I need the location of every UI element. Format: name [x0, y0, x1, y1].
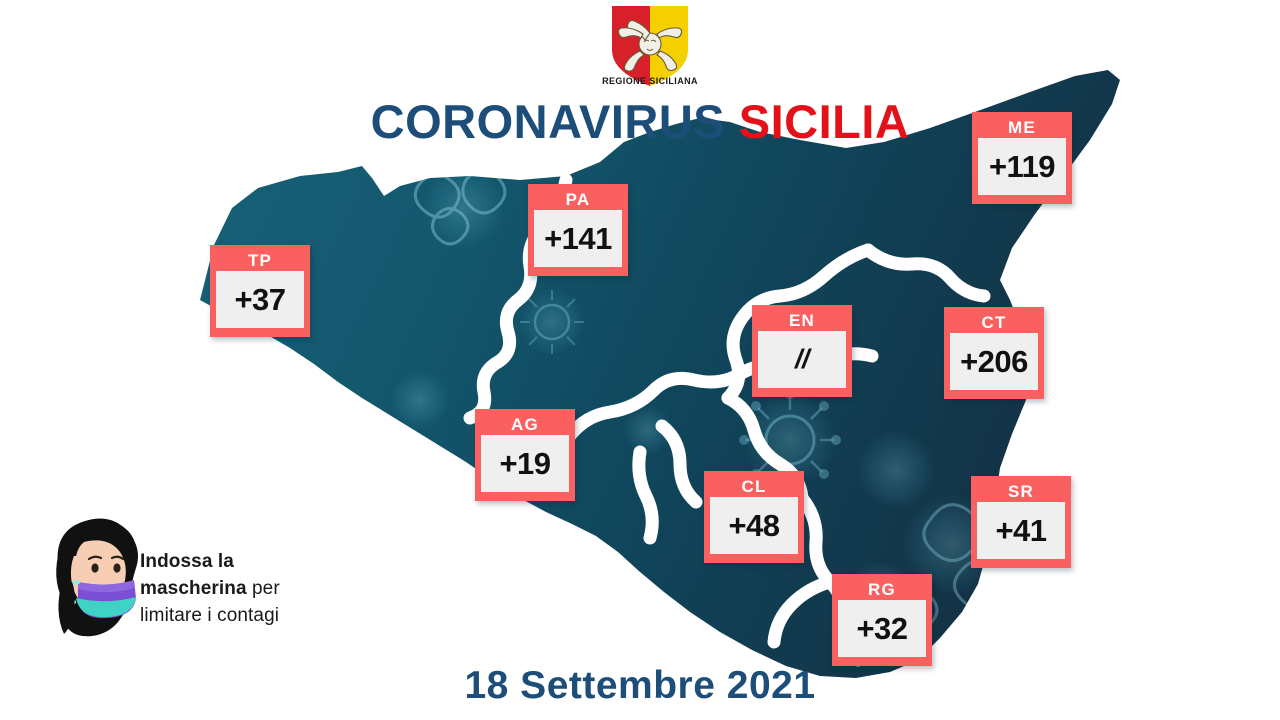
province-value-me: +119 — [978, 138, 1066, 195]
date-label: 18 Settembre 2021 — [0, 664, 1280, 708]
province-box-ag[interactable]: AG +19 — [475, 409, 575, 501]
province-value-cl: +48 — [710, 497, 798, 554]
mask-notice-line3: limitare i contagi — [140, 605, 279, 626]
province-value-sr: +41 — [977, 502, 1065, 559]
infographic-root: REGIONE SICILIANA CORONAVIRUS SICILIA TP… — [0, 0, 1280, 720]
province-code-ct: CT — [950, 312, 1038, 333]
province-value-tp: +37 — [216, 271, 304, 328]
province-box-me[interactable]: ME +119 — [972, 112, 1072, 204]
province-code-cl: CL — [710, 476, 798, 497]
province-box-pa[interactable]: PA +141 — [528, 184, 628, 276]
emblem-caption: REGIONE SICILIANA — [585, 76, 715, 86]
title-primary: CORONAVIRUS — [371, 95, 726, 148]
province-box-cl[interactable]: CL +48 — [704, 471, 804, 563]
province-value-ct: +206 — [950, 333, 1038, 390]
province-code-me: ME — [978, 117, 1066, 138]
province-box-ct[interactable]: CT +206 — [944, 307, 1044, 399]
province-value-pa: +141 — [534, 210, 622, 267]
mask-notice-text: Indossa la mascherina per limitare i con… — [140, 548, 370, 629]
province-box-sr[interactable]: SR +41 — [971, 476, 1071, 568]
province-value-ag: +19 — [481, 435, 569, 492]
province-code-rg: RG — [838, 579, 926, 600]
title-secondary: SICILIA — [739, 95, 910, 148]
province-box-en[interactable]: EN // — [752, 305, 852, 397]
province-code-pa: PA — [534, 189, 622, 210]
mask-notice-line1: Indossa la — [140, 551, 234, 572]
province-value-en: // — [758, 331, 846, 388]
province-box-tp[interactable]: TP +37 — [210, 245, 310, 337]
mask-notice-line2-bold: mascherina — [140, 578, 247, 599]
province-code-ag: AG — [481, 414, 569, 435]
province-code-sr: SR — [977, 481, 1065, 502]
mask-notice-line2-regular: per — [247, 578, 280, 599]
page-title: CORONAVIRUS SICILIA — [0, 94, 1280, 149]
province-value-rg: +32 — [838, 600, 926, 657]
province-code-tp: TP — [216, 250, 304, 271]
province-code-en: EN — [758, 310, 846, 331]
province-box-rg[interactable]: RG +32 — [832, 574, 932, 666]
